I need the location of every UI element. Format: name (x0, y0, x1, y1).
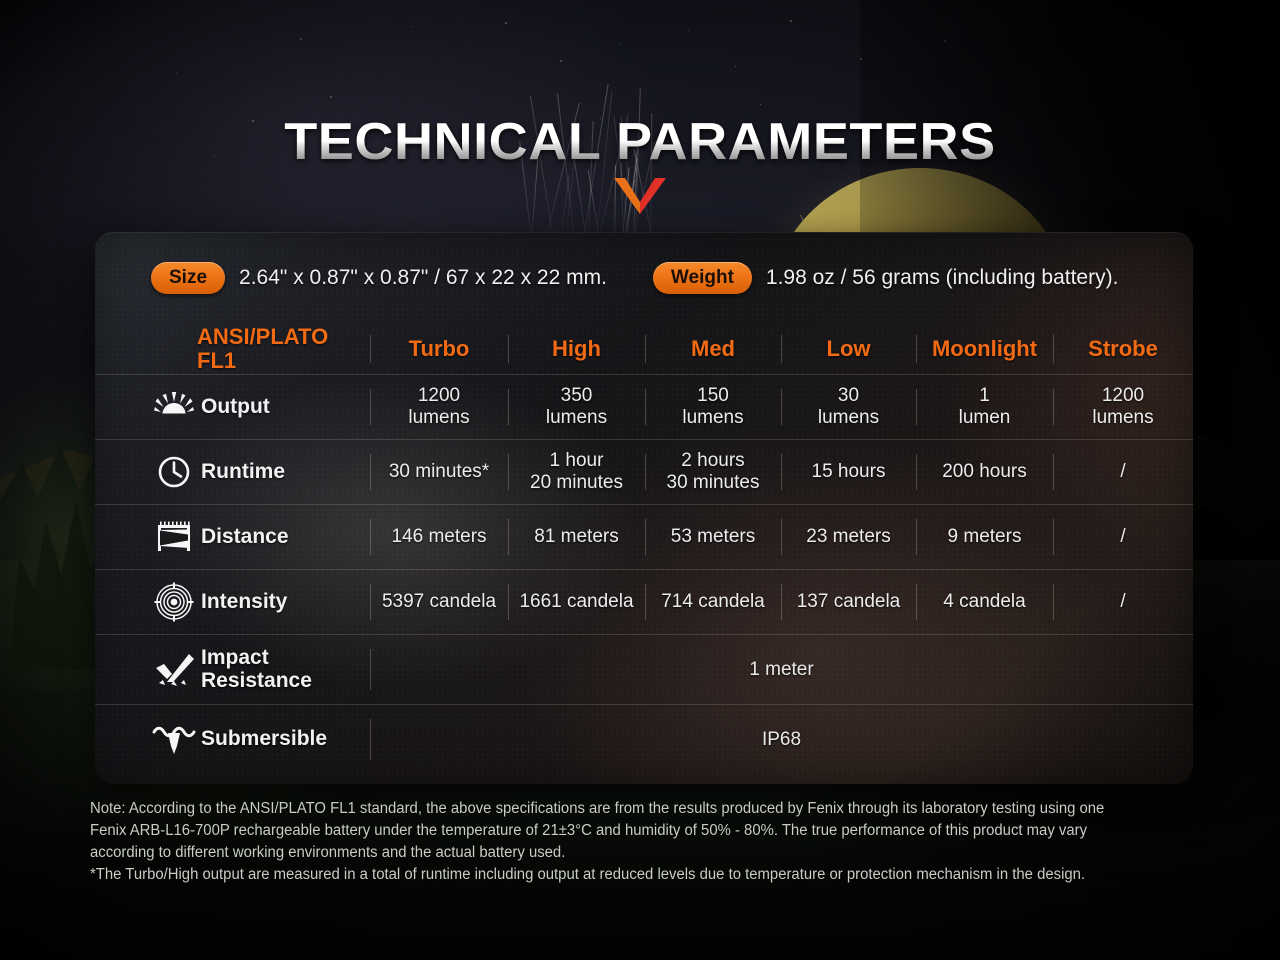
page-title: TECHNICAL PARAMETERS (0, 112, 1280, 172)
specs-table: ANSI/PLATO FL1 Turbo High Med Low Moonli… (95, 324, 1193, 774)
cell-intensity-high: 1661 candela (508, 570, 645, 634)
cell-intensity-low: 137 candela (781, 570, 916, 634)
beam-distance-icon (151, 521, 197, 553)
row-label-runtime: Runtime (95, 440, 370, 504)
row-label-text: Distance (201, 526, 289, 549)
row-label-intensity: Intensity (95, 570, 370, 634)
table-row: Submersible IP68 (95, 704, 1193, 774)
cell-output-low: 30lumens (781, 375, 916, 439)
weight-value: 1.98 oz / 56 grams (including battery). (766, 266, 1119, 290)
submersible-icon (151, 724, 197, 756)
cell-distance-strobe: / (1053, 505, 1193, 569)
row-label-text: Output (201, 396, 270, 419)
cell-intensity-moonlight: 4 candela (916, 570, 1053, 634)
cell-runtime-turbo: 30 minutes* (370, 440, 508, 504)
row-label-text: Intensity (201, 591, 287, 614)
header-turbo: Turbo (370, 324, 508, 374)
cell-output-strobe: 1200lumens (1053, 375, 1193, 439)
row-label-submersible: Submersible (95, 705, 370, 774)
size-weight-row: Size 2.64" x 0.87" x 0.87" / 67 x 22 x 2… (95, 232, 1193, 324)
impact-label-line1: Impact (201, 646, 269, 669)
weight-pill: Weight (653, 262, 752, 294)
value-line1: 15 hours (812, 461, 886, 483)
header-strobe: Strobe (1053, 324, 1193, 374)
cell-runtime-low: 15 hours (781, 440, 916, 504)
table-row: Intensity 5397 candela 1661 candela 714 … (95, 569, 1193, 634)
size-block: Size 2.64" x 0.87" x 0.87" / 67 x 22 x 2… (151, 262, 607, 294)
chevron-down-icon (614, 176, 666, 214)
table-row: ImpactResistance 1 meter (95, 634, 1193, 704)
cell-distance-high: 81 meters (508, 505, 645, 569)
value-line2: lumens (682, 407, 743, 429)
header-low: Low (781, 324, 916, 374)
cell-distance-moonlight: 9 meters (916, 505, 1053, 569)
impact-hammer-icon (151, 652, 197, 688)
header-moonlight: Moonlight (916, 324, 1053, 374)
footnote-line-1: Note: According to the ANSI/PLATO FL1 st… (90, 798, 1175, 820)
cell-distance-turbo: 146 meters (370, 505, 508, 569)
cell-runtime-med: 2 hours30 minutes (645, 440, 781, 504)
crosshair-target-icon (151, 582, 197, 622)
table-row: Runtime 30 minutes* 1 hour20 minutes 2 h… (95, 439, 1193, 504)
value-line1: 2 hours (667, 450, 760, 472)
row-label-text: Runtime (201, 461, 285, 484)
value-line1: 200 hours (942, 461, 1027, 483)
row-label-distance: Distance (95, 505, 370, 569)
cell-runtime-high: 1 hour20 minutes (508, 440, 645, 504)
cell-output-turbo: 1200lumens (370, 375, 508, 439)
cell-impact-resistance-value: 1 meter (370, 635, 1193, 704)
header-standard-label: ANSI/PLATO FL1 (151, 325, 370, 373)
value-line1: 350 (546, 385, 607, 407)
header-high: High (508, 324, 645, 374)
row-label-output: Output (95, 375, 370, 439)
footnote-line-2: Fenix ARB-L16-700P rechargeable battery … (90, 820, 1175, 842)
value-line2: 30 minutes (667, 472, 760, 494)
value-line1: / (1120, 461, 1125, 483)
specs-panel: Size 2.64" x 0.87" x 0.87" / 67 x 22 x 2… (95, 232, 1193, 784)
header-standard-cell: ANSI/PLATO FL1 (95, 324, 370, 374)
sun-burst-icon (151, 392, 197, 422)
cell-runtime-moonlight: 200 hours (916, 440, 1053, 504)
cell-intensity-turbo: 5397 candela (370, 570, 508, 634)
value-line2: lumens (1092, 407, 1153, 429)
cell-intensity-med: 714 candela (645, 570, 781, 634)
value-line2: lumens (546, 407, 607, 429)
table-header-row: ANSI/PLATO FL1 Turbo High Med Low Moonli… (95, 324, 1193, 374)
cell-submersible-value: IP68 (370, 705, 1193, 774)
value-line1: 1200 (1092, 385, 1153, 407)
weight-block: Weight 1.98 oz / 56 grams (including bat… (653, 262, 1119, 294)
cell-distance-low: 23 meters (781, 505, 916, 569)
cell-output-med: 150lumens (645, 375, 781, 439)
row-label-impact-resistance: ImpactResistance (95, 635, 370, 704)
value-line2: lumen (959, 407, 1011, 429)
row-label-text: ImpactResistance (201, 647, 312, 692)
size-value: 2.64" x 0.87" x 0.87" / 67 x 22 x 22 mm. (239, 266, 607, 290)
cell-output-moonlight: 1lumen (916, 375, 1053, 439)
clock-icon (151, 455, 197, 489)
value-line1: 30 (818, 385, 879, 407)
value-line2: 20 minutes (530, 472, 623, 494)
size-pill: Size (151, 262, 225, 294)
table-row: Output 1200lumens 350lumens 150lumens 30… (95, 374, 1193, 439)
value-line1: 1 hour (530, 450, 623, 472)
value-line2: lumens (818, 407, 879, 429)
cell-intensity-strobe: / (1053, 570, 1193, 634)
value-line1: 1200 (408, 385, 469, 407)
value-line1: 30 minutes* (389, 461, 489, 483)
impact-label-line2: Resistance (201, 669, 312, 692)
header-med: Med (645, 324, 781, 374)
value-line1: 150 (682, 385, 743, 407)
row-label-text: Submersible (201, 728, 327, 751)
cell-runtime-strobe: / (1053, 440, 1193, 504)
footnote: Note: According to the ANSI/PLATO FL1 st… (90, 798, 1175, 886)
footnote-line-4: *The Turbo/High output are measured in a… (90, 864, 1175, 886)
value-line2: lumens (408, 407, 469, 429)
cell-distance-med: 53 meters (645, 505, 781, 569)
footnote-line-3: according to different working environme… (90, 842, 1175, 864)
value-line1: 1 (959, 385, 1011, 407)
table-row: Distance 146 meters 81 meters 53 meters … (95, 504, 1193, 569)
cell-output-high: 350lumens (508, 375, 645, 439)
